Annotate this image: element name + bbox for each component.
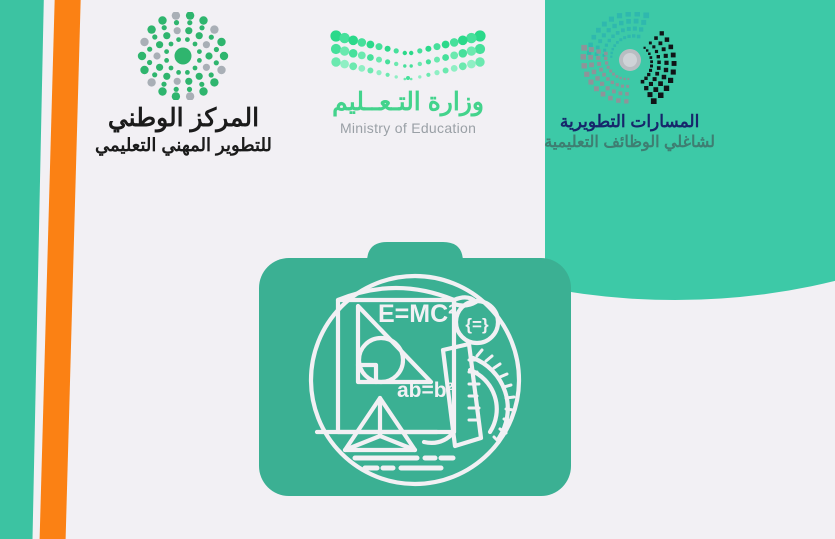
logo-ministry-of-education: وزارة التـعــليم Ministry of Education: [328, 26, 488, 136]
radial-dot-burst-icon: [137, 12, 229, 100]
logo-developmental-pathways: المسارات التطويرية لشاغلي الوظائف التعلي…: [544, 12, 715, 153]
left-band-teal: [0, 0, 44, 539]
logo-pathways-title: المسارات التطويرية: [560, 112, 699, 132]
logo-national-center: المركز الوطني للتطوير المهني التعليمي: [95, 12, 272, 156]
formula-badge-symbol: {=}: [465, 315, 489, 334]
logo-pathways-subtitle: لشاغلي الوظائف التعليمية: [544, 134, 715, 153]
triskelion-squares-icon: [572, 12, 688, 108]
logo-ministry-title: وزارة التـعــليم: [332, 88, 484, 118]
education-briefcase-illustration: E=MC² ab=b² {=}: [255, 210, 575, 510]
formula-primary: E=MC²: [378, 300, 456, 328]
briefcase-svg: E=MC² ab=b² {=}: [255, 210, 575, 510]
slide-canvas: المركز الوطني للتطوير المهني التعليمي وز…: [0, 0, 835, 539]
logo-ministry-subtitle: Ministry of Education: [340, 120, 476, 136]
logo-row: المركز الوطني للتطوير المهني التعليمي وز…: [95, 12, 715, 172]
logo-national-center-subtitle: للتطوير المهني التعليمي: [95, 135, 272, 156]
logo-national-center-title: المركز الوطني: [108, 104, 259, 134]
palm-wing-dots-icon: [328, 26, 488, 82]
left-band-orange: [39, 0, 81, 539]
